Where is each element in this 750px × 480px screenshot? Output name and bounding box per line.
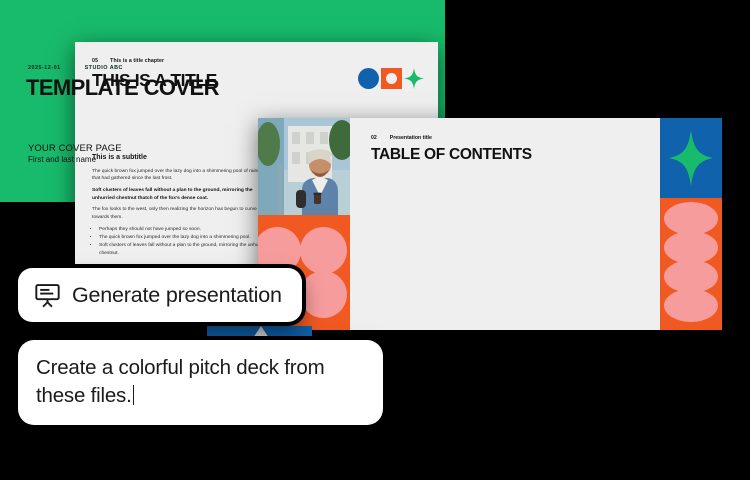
cover-footer-line1: YOUR COVER PAGE: [28, 143, 122, 154]
body-paragraph-bold: Soft clusters of leaves fall without a p…: [92, 187, 272, 202]
toc-header: 02 Presentation title: [371, 135, 432, 141]
text-caret: [133, 385, 135, 405]
decorative-marks: [358, 68, 424, 89]
cover-date: 2025-12-01: [28, 65, 61, 71]
slide-table-of-contents[interactable]: 02 Presentation title TABLE OF CONTENTS: [258, 118, 722, 330]
list-item: Soft clusters of leaves fall without a p…: [99, 242, 272, 257]
cover-meta: 2025-12-01 STUDIO ABC: [28, 65, 123, 71]
slide-photo: [258, 118, 350, 215]
body-bullet-list: Perhaps they should not have jumped so s…: [99, 226, 272, 257]
cover-studio: STUDIO ABC: [85, 65, 123, 71]
generate-presentation-label: Generate presentation: [72, 283, 282, 308]
slide-number: 05: [92, 58, 98, 64]
presentation-title-label: Presentation title: [390, 135, 432, 141]
slide-body: The quick brown fox jumped over the lazy…: [92, 168, 272, 258]
generate-presentation-button[interactable]: Generate presentation: [18, 268, 302, 322]
orange-square-icon: [381, 68, 402, 89]
pink-circle-icon: [258, 227, 301, 274]
body-paragraph: The quick brown fox jumped over the lazy…: [92, 168, 272, 183]
pink-circle-icon: [300, 271, 347, 318]
pink-ellipse-icon: [664, 289, 718, 322]
blue-circle-icon: [358, 68, 379, 89]
body-paragraph: The fox looks to the west, only then rea…: [92, 206, 272, 221]
green-star-icon: [404, 68, 424, 89]
slide-title-header: 05 This is a title chapter: [92, 58, 164, 64]
prompt-input-value[interactable]: Create a colorful pitch deck from these …: [36, 356, 325, 407]
slide-number: 02: [371, 135, 377, 141]
presentation-board-icon: [34, 282, 61, 309]
triangle-decoration: [253, 326, 269, 338]
pink-circle-icon: [300, 227, 347, 274]
slide-chapter-label: This is a title chapter: [110, 58, 164, 64]
list-item: The quick brown fox jumped over the lazy…: [99, 234, 272, 241]
cover-title: TEMPLATE COVER: [26, 75, 219, 101]
prompt-input[interactable]: Create a colorful pitch deck from these …: [18, 340, 383, 425]
list-item: Perhaps they should not have jumped so s…: [99, 226, 272, 233]
screenshot-canvas: 05 This is a title chapter THIS IS A TIT…: [0, 0, 750, 480]
cover-footer-line2: First and last name: [28, 155, 122, 164]
cover-footer: YOUR COVER PAGE First and last name: [28, 143, 122, 164]
right-decorative-rail: [660, 118, 722, 330]
toc-title: TABLE OF CONTENTS: [371, 146, 532, 164]
green-star-icon: [669, 130, 713, 186]
